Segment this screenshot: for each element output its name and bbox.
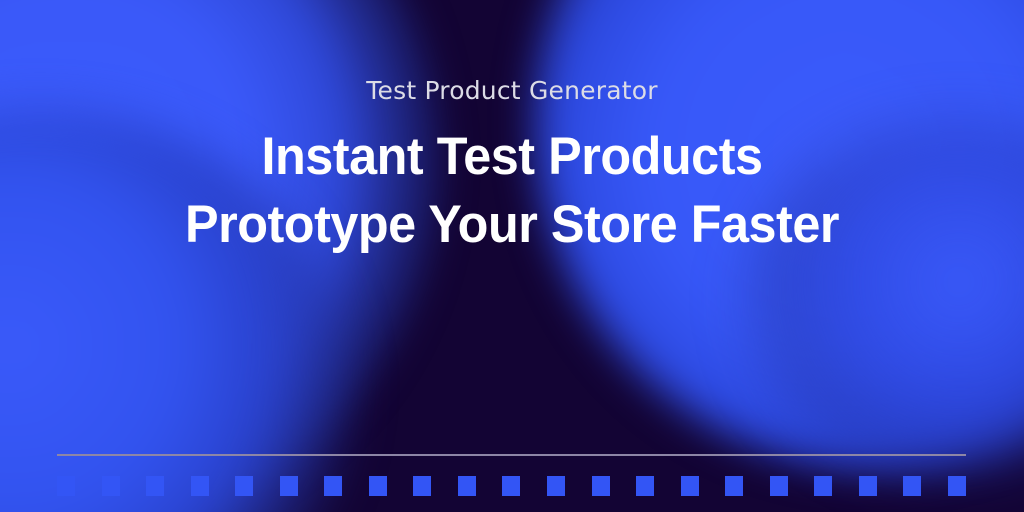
- headline-line-2: Prototype Your Store Faster: [26, 191, 999, 259]
- horizontal-divider: [57, 454, 966, 456]
- hero-banner: Test Product Generator Instant Test Prod…: [0, 0, 1024, 512]
- accent-square: [814, 476, 832, 496]
- accent-square: [235, 476, 253, 496]
- accent-square: [458, 476, 476, 496]
- accent-square: [280, 476, 298, 496]
- accent-square: [725, 476, 743, 496]
- eyebrow-label: Test Product Generator: [0, 0, 1024, 105]
- accent-square: [102, 476, 120, 496]
- accent-square-row: [57, 476, 966, 496]
- accent-square: [948, 476, 966, 496]
- accent-square: [191, 476, 209, 496]
- accent-square: [57, 476, 75, 496]
- accent-square: [324, 476, 342, 496]
- accent-square: [636, 476, 654, 496]
- accent-square: [903, 476, 921, 496]
- headline-line-1: Instant Test Products: [26, 123, 999, 191]
- accent-square: [859, 476, 877, 496]
- accent-square: [146, 476, 164, 496]
- accent-square: [681, 476, 699, 496]
- hero-content: Test Product Generator Instant Test Prod…: [0, 0, 1024, 259]
- accent-square: [547, 476, 565, 496]
- accent-square: [413, 476, 431, 496]
- accent-square: [770, 476, 788, 496]
- page-title: Instant Test Products Prototype Your Sto…: [26, 105, 999, 259]
- accent-square: [369, 476, 387, 496]
- accent-square: [502, 476, 520, 496]
- accent-square: [592, 476, 610, 496]
